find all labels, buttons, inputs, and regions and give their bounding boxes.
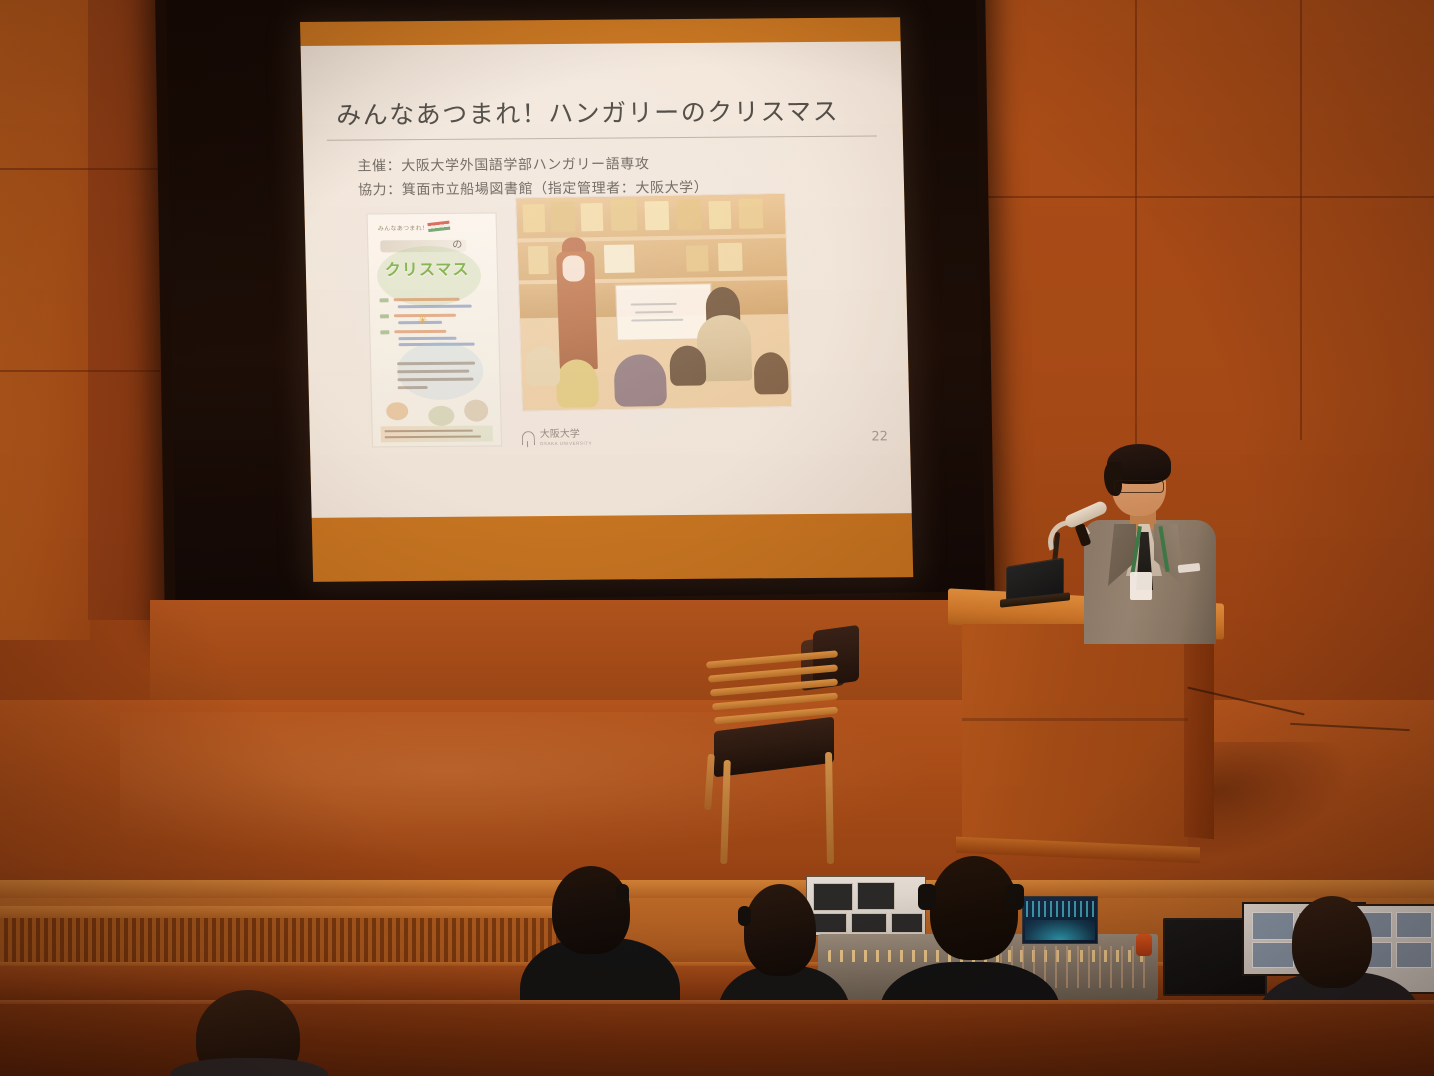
headset-icon bbox=[918, 884, 936, 910]
headset-icon bbox=[616, 884, 629, 904]
poster-heading: みんなあつまれ！ bbox=[378, 223, 429, 232]
projected-image: みんなあつまれ！ハンガリーのクリスマス 主催：大阪大学外国語学部ハンガリー語専攻… bbox=[300, 17, 913, 582]
poster-bubble-line bbox=[397, 362, 475, 366]
stacked-chairs bbox=[700, 628, 865, 868]
staff-head bbox=[744, 884, 816, 976]
projection-screen: みんなあつまれ！ハンガリーのクリスマス 主催：大阪大学外国語学部ハンガリー語専攻… bbox=[300, 17, 913, 582]
title-divider bbox=[327, 135, 877, 140]
auditorium-scene: みんなあつまれ！ハンガリーのクリスマス 主催：大阪大学外国語学部ハンガリー語専攻… bbox=[0, 0, 1434, 1076]
mixer-display[interactable] bbox=[1022, 896, 1098, 944]
poster-label bbox=[380, 298, 389, 302]
headset-icon bbox=[1006, 884, 1024, 910]
wall-panel-left bbox=[0, 0, 90, 640]
event-photo bbox=[515, 193, 792, 411]
logo-subtext: OSAKA UNIVERSITY bbox=[540, 440, 592, 445]
wall-seam bbox=[1300, 0, 1302, 440]
poster-bubble-line bbox=[397, 378, 473, 382]
video-switcher[interactable] bbox=[806, 876, 926, 936]
poster-decor-icon bbox=[464, 399, 489, 421]
poster-text-line bbox=[394, 330, 446, 333]
slide-subtitle-organizer: 主催：大阪大学外国語学部ハンガリー語専攻 bbox=[357, 153, 649, 175]
poster-text-line bbox=[398, 337, 456, 340]
university-logo: 大阪大学 OSAKA UNIVERSITY bbox=[522, 430, 592, 446]
osaka-university-mark-icon bbox=[522, 431, 535, 445]
poster-bubble-line bbox=[397, 370, 469, 374]
poster-decor-icon bbox=[386, 402, 408, 420]
slide-title: みんなあつまれ！ハンガリーのクリスマス bbox=[336, 92, 840, 132]
headset-icon bbox=[738, 906, 751, 926]
poster-bubble-line bbox=[398, 386, 428, 389]
wall-seam bbox=[0, 168, 160, 170]
hungary-flag-icon bbox=[427, 221, 450, 232]
staff-head bbox=[930, 856, 1018, 960]
poster-decor-icon bbox=[428, 406, 454, 426]
name-badge bbox=[1130, 572, 1152, 600]
wall-seam bbox=[1135, 0, 1137, 470]
presentation-slide: みんなあつまれ！ハンガリーのクリスマス 主催：大阪大学外国語学部ハンガリー語専攻… bbox=[301, 41, 912, 518]
poster-label bbox=[380, 314, 389, 318]
staff-head bbox=[1292, 896, 1372, 988]
poster-label bbox=[380, 330, 389, 334]
slide-page-number: 22 bbox=[871, 429, 888, 444]
desk-light[interactable] bbox=[1136, 934, 1152, 956]
staff-head bbox=[552, 866, 630, 954]
wall-seam bbox=[980, 196, 1434, 198]
poster-footer bbox=[381, 425, 493, 442]
presenter bbox=[1078, 440, 1228, 640]
logo-text: 大阪大学 bbox=[540, 430, 592, 441]
wall-seam bbox=[0, 370, 160, 372]
poster-text-line bbox=[394, 298, 460, 302]
poster-text-line bbox=[398, 305, 472, 309]
event-poster-image: みんなあつまれ！ の クリスマス ✳ bbox=[367, 212, 503, 447]
poster-star-icon: ✳ bbox=[418, 314, 428, 327]
poster-word: クリスマス bbox=[385, 256, 470, 281]
glasses-icon bbox=[1114, 480, 1164, 493]
